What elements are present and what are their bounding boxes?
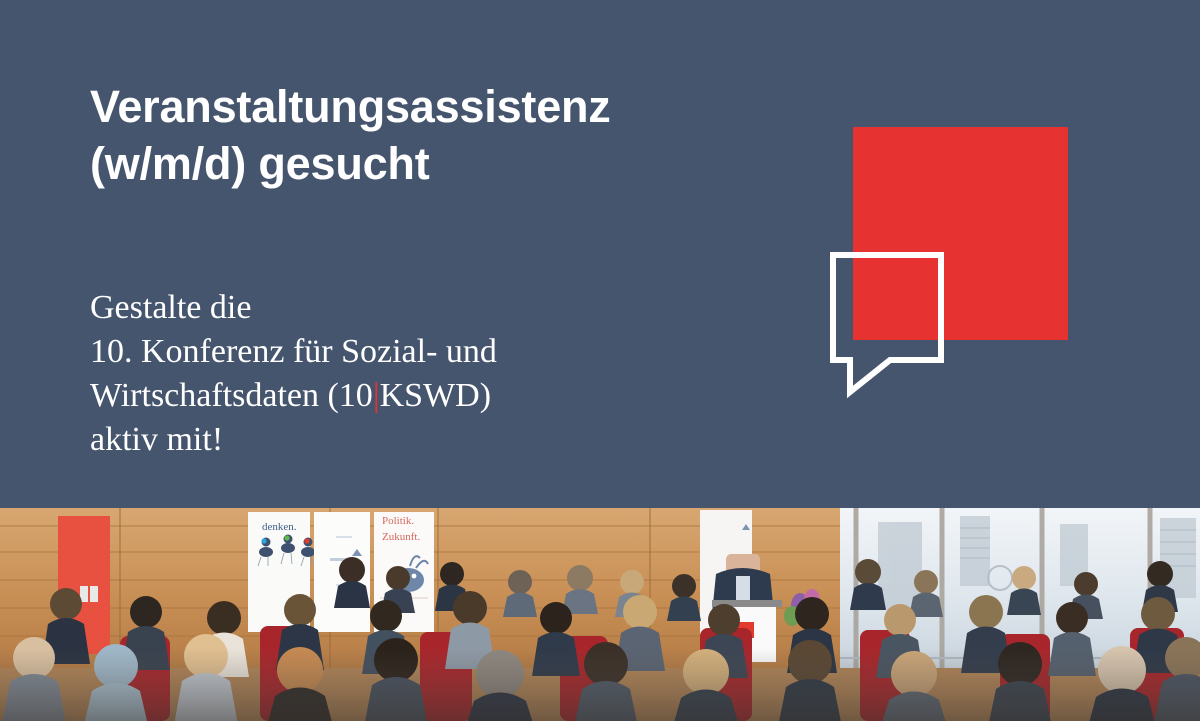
conference-photo: denken. Politik. Zukunft. — [0, 508, 1200, 721]
page-title: Veranstaltungsassistenz (w/m/d) gesucht — [90, 78, 790, 192]
subtitle-line-3: Wirtschaftsdaten (10|KSWD) — [90, 374, 790, 418]
speech-bubble-icon — [828, 250, 948, 400]
svg-text:denken.: denken. — [262, 521, 297, 533]
svg-text:Politik.: Politik. — [382, 515, 414, 527]
subtitle-line-3-prefix: Wirtschaftsdaten (10 — [90, 377, 373, 414]
subtitle-line-2: 10. Konferenz für Sozial- und — [90, 330, 790, 374]
brand-mark — [828, 120, 1078, 405]
subtitle-block: Gestalte die 10. Konferenz für Sozial- u… — [90, 286, 790, 462]
conference-photo-illustration: denken. Politik. Zukunft. — [0, 508, 1200, 721]
svg-text:Zukunft.: Zukunft. — [382, 531, 420, 543]
subtitle-line-4: aktiv mit! — [90, 418, 790, 462]
subtitle-line-1: Gestalte die — [90, 286, 790, 330]
conference-separator: | — [373, 377, 380, 414]
job-ad-banner: Veranstaltungsassistenz (w/m/d) gesucht … — [0, 0, 1200, 721]
subtitle-line-3-suffix: KSWD) — [380, 377, 491, 414]
text-panel: Veranstaltungsassistenz (w/m/d) gesucht … — [0, 0, 1200, 508]
